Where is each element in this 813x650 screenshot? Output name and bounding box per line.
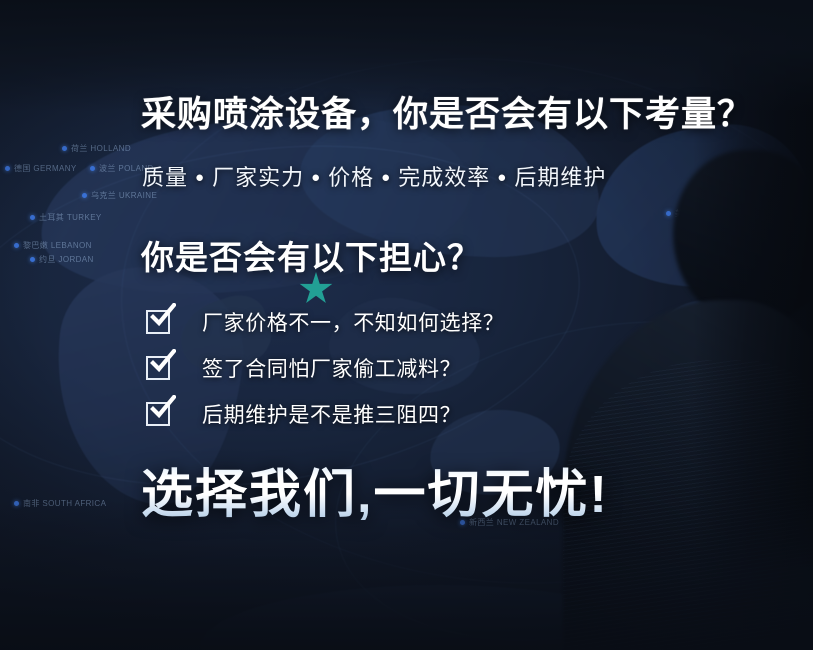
bullet-separator-icon: ● — [381, 169, 391, 186]
banner-content: 采购喷涂设备，你是否会有以下考量？ 质量●厂家实力●价格●完成效率●后期维护 你… — [0, 0, 813, 650]
checklist-item: 签了合同怕厂家偷工减料？ — [146, 352, 504, 384]
bullet-separator-icon: ● — [195, 169, 205, 186]
feature-term: 后期维护 — [514, 165, 606, 190]
feature-term: 厂家实力 — [212, 165, 304, 190]
checkbox-checked-icon — [146, 402, 170, 426]
checklist-item: 厂家价格不一，不知如何选择？ — [146, 306, 504, 338]
bullet-separator-icon: ● — [311, 169, 321, 186]
bullet-separator-icon: ● — [497, 169, 507, 186]
promo-banner: 荷兰 HOLLAND德国 GERMANY波兰 POLAND乌克兰 UKRAINE… — [0, 0, 813, 650]
checklist-item-label: 后期维护是不是推三阻四？ — [202, 399, 461, 429]
headline-primary: 采购喷涂设备，你是否会有以下考量？ — [141, 86, 753, 137]
checklist-item-label: 签了合同怕厂家偷工减料？ — [202, 353, 461, 383]
feature-term: 价格 — [328, 165, 374, 190]
feature-term: 质量 — [142, 165, 188, 190]
feature-term-list: 质量●厂家实力●价格●完成效率●后期维护 — [142, 160, 606, 192]
slogan-text: 选择我们,一切无忧! — [141, 452, 609, 527]
concern-checklist: 厂家价格不一，不知如何选择？签了合同怕厂家偷工减料？后期维护是不是推三阻四？ — [146, 306, 504, 430]
checklist-item: 后期维护是不是推三阻四？ — [146, 398, 504, 430]
checkbox-checked-icon — [146, 356, 170, 380]
checkbox-checked-icon — [146, 310, 170, 334]
feature-term: 完成效率 — [398, 165, 490, 190]
checklist-item-label: 厂家价格不一，不知如何选择？ — [202, 307, 504, 337]
headline-secondary: 你是否会有以下担心？ — [141, 231, 481, 279]
